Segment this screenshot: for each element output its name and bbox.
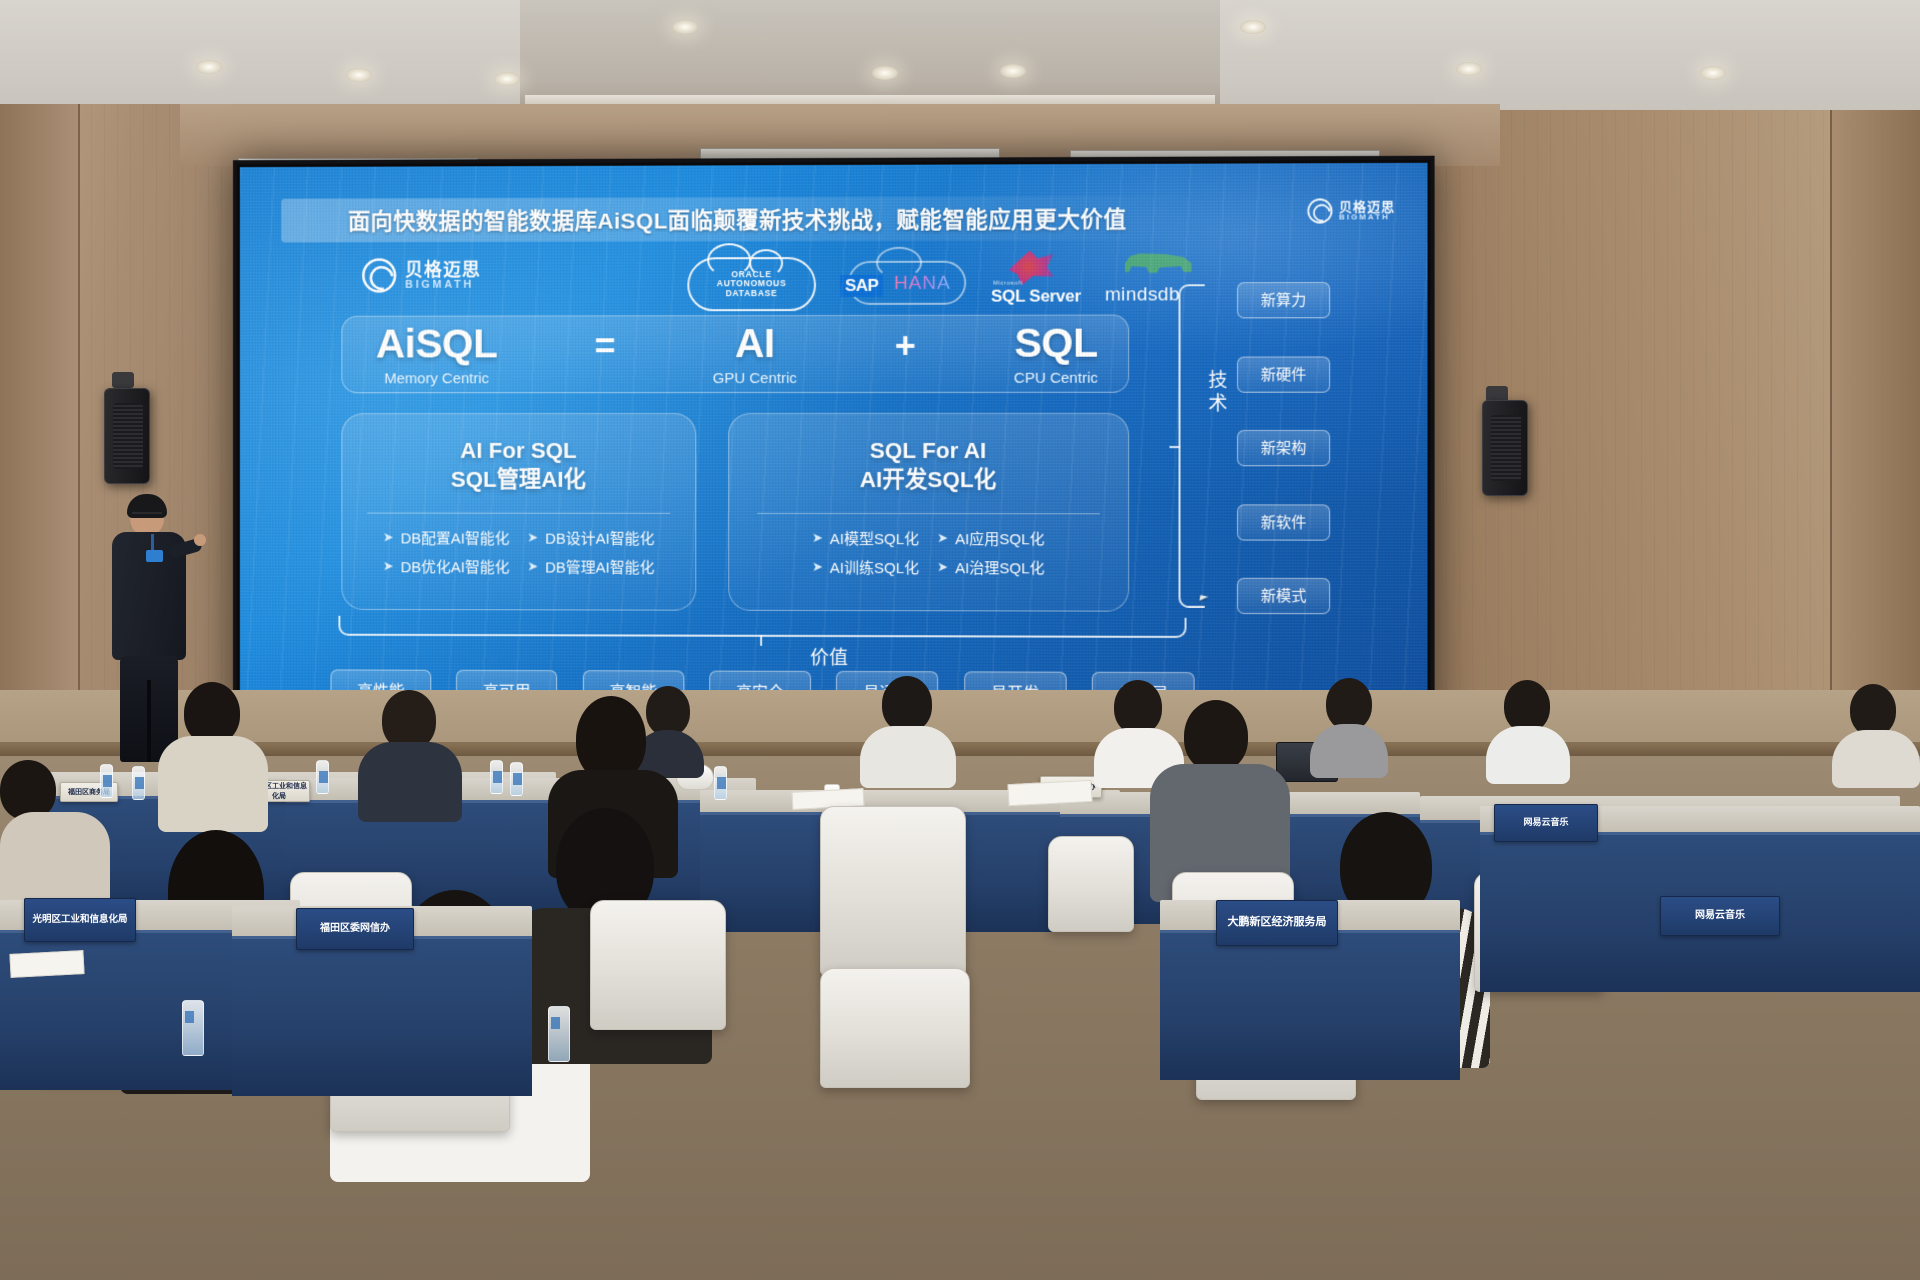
person-head	[184, 682, 240, 744]
term-label: AiSQL	[376, 323, 497, 364]
downlight	[1000, 64, 1026, 78]
slide-title-bar: 面向快数据的智能数据库AiSQL面临颠覆新技术挑战，赋能智能应用更大价值	[281, 196, 1194, 243]
chevron-right-icon: ➤	[383, 558, 394, 574]
glasses-icon	[132, 512, 162, 520]
term-label: SQL	[1014, 322, 1097, 363]
panel-bullet-list: ➤AI模型SQL化 ➤AI应用SQL化 ➤AI训练SQL化 ➤AI治理SQL化	[798, 527, 1059, 577]
divider	[757, 512, 1100, 513]
bullet-label: AI治理SQL化	[955, 557, 1045, 578]
panel-heading-cn: SQL管理AI化	[451, 465, 586, 494]
person-head	[1184, 700, 1248, 772]
term-subtitle: GPU Centric	[713, 371, 797, 386]
nameplate: 光明区工业和信息化局	[24, 898, 136, 942]
water-bottle	[490, 760, 503, 794]
list-item: ➤DB设计AI智能化	[527, 527, 654, 548]
nameplate: 网易云音乐	[1494, 804, 1598, 842]
list-item: ➤AI模型SQL化	[812, 527, 919, 548]
oracle-line-3: DATABASE	[726, 289, 778, 299]
downlight	[494, 72, 520, 86]
speaker-mount	[112, 372, 134, 388]
water-bottle	[510, 762, 523, 796]
badge	[146, 550, 163, 562]
tech-label: 技术	[1205, 370, 1231, 417]
brand-name-cn: 贝格迈思	[405, 261, 481, 279]
chevron-right-icon: ➤	[812, 530, 823, 546]
water-bottle	[714, 766, 727, 800]
chair	[1048, 836, 1134, 932]
brand-logo-topright: 贝格迈思 BIGMATH	[1307, 198, 1395, 223]
chevron-right-icon: ➤	[937, 530, 948, 546]
nameplate: 福田区委网信办	[296, 908, 414, 950]
downlight	[1456, 62, 1482, 76]
equation-operator-plus: +	[895, 325, 916, 383]
bullet-label: AI应用SQL化	[955, 528, 1045, 549]
bullet-label: DB管理AI智能化	[545, 556, 654, 577]
tech-tag[interactable]: 新算力	[1237, 282, 1330, 318]
panel-sql-for-ai: SQL For AI AI开发SQL化 ➤AI模型SQL化 ➤AI应用SQL化 …	[728, 413, 1129, 612]
bullet-label: DB设计AI智能化	[545, 527, 654, 548]
list-item: ➤AI训练SQL化	[812, 556, 919, 577]
nameplate: 网易云音乐	[1660, 896, 1780, 936]
chevron-right-icon: ➤	[527, 530, 538, 546]
downlight	[872, 66, 898, 80]
panel-heading-en: SQL For AI	[860, 436, 997, 465]
tech-tag-list: 新算力 新硬件 新架构 新软件 新模式	[1237, 282, 1330, 614]
table-cloth	[1160, 930, 1460, 1080]
audience-person	[1486, 680, 1570, 784]
value-brace	[338, 616, 1186, 638]
list-item: ➤DB管理AI智能化	[527, 556, 654, 577]
water-bottle	[132, 766, 145, 800]
mindsdb-wordmark: mindsdb	[1105, 284, 1180, 306]
speaker-right	[1482, 400, 1528, 496]
audience-person	[1150, 700, 1290, 900]
value-label: 价值	[240, 641, 1428, 671]
sql-server-wordmark: SQL Server	[991, 286, 1081, 306]
water-bottle	[182, 1000, 204, 1056]
person-head	[882, 676, 932, 732]
person-shoulders	[1310, 724, 1388, 778]
list-item: ➤DB优化AI智能化	[383, 556, 510, 577]
downlight	[672, 20, 698, 34]
panel-heading: SQL For AI AI开发SQL化	[860, 436, 997, 495]
wall-left-panel	[0, 104, 80, 764]
chair	[590, 900, 726, 1030]
panel-heading-cn: AI开发SQL化	[860, 465, 997, 494]
bullet-label: AI训练SQL化	[830, 557, 919, 578]
term-subtitle: Memory Centric	[384, 371, 489, 386]
speaker-left	[104, 388, 150, 484]
person-shoulders	[1486, 726, 1570, 784]
chevron-right-icon: ➤	[812, 559, 823, 575]
tech-tag[interactable]: 新模式	[1237, 578, 1330, 614]
led-screen[interactable]: 面向快数据的智能数据库AiSQL面临颠覆新技术挑战，赋能智能应用更大价值 贝格迈…	[233, 156, 1435, 723]
brand-name-en: BIGMATH	[1339, 213, 1395, 221]
bear-icon	[1125, 252, 1192, 284]
page-title: 面向快数据的智能数据库AiSQL面临颠覆新技术挑战，赋能智能应用更大价值	[348, 202, 1126, 236]
person-shoulders	[358, 742, 462, 822]
partner-logo-row: ORACLE AUTONOMOUS DATABASE SAP HANA Micr…	[687, 252, 1208, 311]
chevron-right-icon: ➤	[937, 559, 948, 575]
document-paper	[9, 950, 84, 978]
aisql-equation: AiSQL Memory Centric = AI GPU Centric + …	[341, 315, 1129, 394]
nameplate-label: 福田区委网信办	[320, 923, 390, 936]
nameplate-label: 大鹏新区经济服务局	[1228, 916, 1327, 930]
term-subtitle: CPU Centric	[1014, 370, 1098, 385]
tech-brace	[1178, 284, 1204, 608]
list-item: ➤AI应用SQL化	[937, 528, 1045, 549]
person-head	[1504, 680, 1550, 732]
person-shoulders	[158, 736, 268, 832]
panel-heading-en: AI For SQL	[451, 436, 586, 465]
brand-logo-main: 贝格迈思 BIGMATH	[362, 258, 481, 293]
nameplate: 大鹏新区经济服务局	[1216, 900, 1338, 946]
nameplate-label: 网易云音乐	[1523, 817, 1568, 828]
person-head	[1850, 684, 1896, 736]
equation-term-sql: SQL CPU Centric	[1014, 322, 1098, 385]
downlight	[1240, 20, 1266, 34]
panel-heading: AI For SQL SQL管理AI化	[451, 436, 586, 494]
wall-right-panel	[1830, 110, 1920, 770]
panel-bullet-list: ➤DB配置AI智能化 ➤DB设计AI智能化 ➤DB优化AI智能化 ➤DB管理AI…	[369, 527, 668, 577]
presentation-slide: 面向快数据的智能数据库AiSQL面临颠覆新技术挑战，赋能智能应用更大价值 贝格迈…	[240, 163, 1428, 715]
sap-hana-logo: SAP HANA	[834, 257, 973, 311]
presenter-hand	[194, 534, 206, 546]
conference-room: 面向快数据的智能数据库AiSQL面临颠覆新技术挑战，赋能智能应用更大价值 贝格迈…	[0, 0, 1920, 1280]
audience-person	[358, 690, 462, 820]
chair	[820, 806, 966, 976]
tech-tag[interactable]: 新硬件	[1237, 356, 1330, 392]
equation-operator-equals: =	[595, 325, 616, 383]
brand-name-en: BIGMATH	[405, 279, 481, 290]
sap-wordmark: SAP	[840, 275, 883, 297]
bigmath-mark-icon	[1307, 198, 1332, 223]
downlight	[1700, 66, 1726, 80]
list-item: ➤DB配置AI智能化	[383, 527, 510, 548]
stage-edge	[0, 742, 1920, 756]
person-head	[382, 690, 436, 750]
audience-person	[860, 676, 956, 788]
nameplate-label: 网易云音乐	[1695, 910, 1745, 923]
chevron-right-icon: ➤	[527, 559, 538, 575]
list-item: ➤AI治理SQL化	[937, 557, 1045, 578]
water-bottle	[316, 760, 329, 794]
divider	[367, 512, 671, 513]
water-bottle	[548, 1006, 570, 1062]
person-shoulders	[860, 726, 956, 788]
equation-term-aisql: AiSQL Memory Centric	[376, 323, 497, 386]
audience-person	[158, 682, 268, 832]
person-head	[0, 760, 56, 820]
downlight	[346, 68, 372, 82]
bullet-label: AI模型SQL化	[830, 528, 919, 549]
term-label: AI	[735, 323, 775, 364]
bullet-label: DB优化AI智能化	[401, 556, 510, 577]
hana-wordmark: HANA	[894, 273, 951, 295]
audience-person	[1832, 684, 1920, 788]
bullet-label: DB配置AI智能化	[401, 527, 510, 548]
person-head	[1326, 678, 1372, 730]
bigmath-mark-icon	[362, 258, 396, 292]
chair	[820, 968, 970, 1088]
person-shoulders	[1832, 730, 1920, 788]
chevron-right-icon: ➤	[383, 529, 394, 545]
equation-term-ai: AI GPU Centric	[713, 323, 797, 386]
oracle-autonomous-database-logo: ORACLE AUTONOMOUS DATABASE	[687, 257, 816, 311]
nameplate-label: 光明区工业和信息化局	[32, 914, 127, 926]
downlight	[196, 60, 222, 74]
panel-ai-for-sql: AI For SQL SQL管理AI化 ➤DB配置AI智能化 ➤DB设计AI智能…	[341, 413, 696, 611]
table-cloth	[232, 936, 532, 1096]
audience-person	[1310, 678, 1388, 778]
tech-tag[interactable]: 新软件	[1237, 504, 1330, 540]
document-paper	[1007, 780, 1092, 806]
tech-tag[interactable]: 新架构	[1237, 430, 1330, 466]
microsoft-sql-server-logo: Microsoft SQL Server	[991, 254, 1087, 310]
